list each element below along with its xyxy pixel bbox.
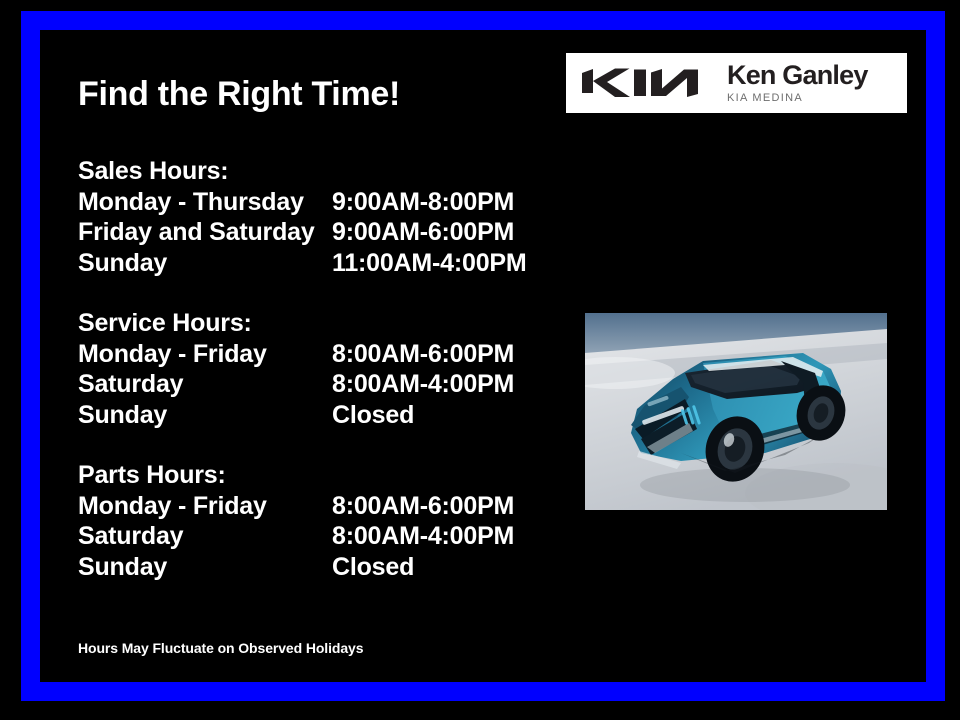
slide-canvas: Find the Right Time! Sales Hours: Monday…	[0, 0, 960, 720]
hours-row: Saturday 8:00AM-4:00PM	[78, 521, 518, 552]
hours-row-days: Monday - Friday	[78, 491, 332, 522]
hours-row-days: Saturday	[78, 521, 332, 552]
hours-row: Sunday 11:00AM-4:00PM	[78, 248, 518, 279]
hours-group-sales: Sales Hours: Monday - Thursday 9:00AM-8:…	[78, 156, 518, 278]
hours-row-time: 11:00AM-4:00PM	[332, 248, 527, 279]
group-heading: Sales Hours:	[78, 156, 518, 187]
footer-disclaimer: Hours May Fluctuate on Observed Holidays	[78, 640, 363, 656]
hours-row: Saturday 8:00AM-4:00PM	[78, 369, 518, 400]
hours-row-time: 8:00AM-4:00PM	[332, 521, 514, 552]
hours-list: Sales Hours: Monday - Thursday 9:00AM-8:…	[78, 156, 518, 582]
group-heading: Parts Hours:	[78, 460, 518, 491]
hours-row-time: 9:00AM-6:00PM	[332, 217, 514, 248]
hours-group-service: Service Hours: Monday - Friday 8:00AM-6:…	[78, 308, 518, 430]
hours-row-time: 8:00AM-6:00PM	[332, 339, 514, 370]
hours-row: Monday - Thursday 9:00AM-8:00PM	[78, 187, 518, 218]
hours-row-days: Sunday	[78, 400, 332, 431]
hours-row-days: Friday and Saturday	[78, 217, 332, 248]
dealer-name: Ken Ganley	[727, 62, 868, 89]
hours-row-days: Saturday	[78, 369, 332, 400]
hours-row: Friday and Saturday 9:00AM-6:00PM	[78, 217, 518, 248]
hours-group-parts: Parts Hours: Monday - Friday 8:00AM-6:00…	[78, 460, 518, 582]
kia-ev9-suv-photo	[585, 313, 887, 510]
hours-row: Sunday Closed	[78, 400, 518, 431]
dealer-logo-box: Ken Ganley KIA MEDINA	[566, 53, 907, 113]
dealer-name-block: Ken Ganley KIA MEDINA	[727, 62, 868, 105]
hours-row-days: Monday - Friday	[78, 339, 332, 370]
dealer-sublabel: KIA MEDINA	[727, 91, 868, 105]
group-heading: Service Hours:	[78, 308, 518, 339]
hours-row-time: Closed	[332, 400, 414, 431]
hours-row: Monday - Friday 8:00AM-6:00PM	[78, 491, 518, 522]
vehicle-photo-illustration	[585, 313, 887, 510]
hours-row-days: Sunday	[78, 248, 332, 279]
hours-row-days: Monday - Thursday	[78, 187, 332, 218]
hours-row-time: 8:00AM-6:00PM	[332, 491, 514, 522]
hours-row-days: Sunday	[78, 552, 332, 583]
hours-row-time: 8:00AM-4:00PM	[332, 369, 514, 400]
hours-row-time: 9:00AM-8:00PM	[332, 187, 514, 218]
page-title: Find the Right Time!	[78, 76, 400, 113]
hours-row-time: Closed	[332, 552, 414, 583]
hours-row: Monday - Friday 8:00AM-6:00PM	[78, 339, 518, 370]
hours-row: Sunday Closed	[78, 552, 518, 583]
kia-logo-icon	[578, 66, 703, 100]
